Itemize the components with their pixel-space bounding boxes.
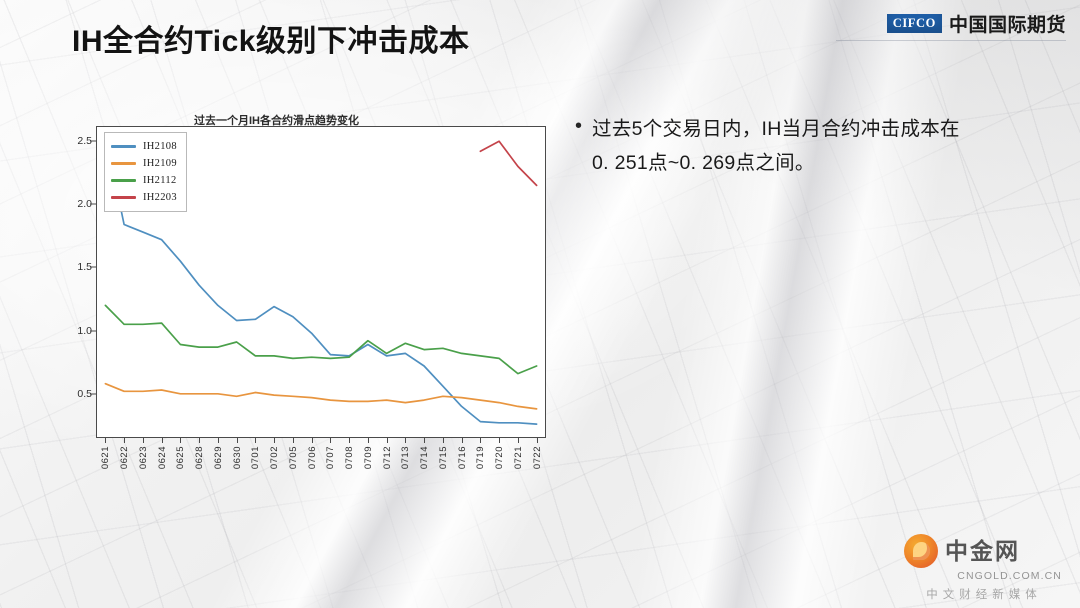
bullet-line-1: 过去5个交易日内，IH当月合约冲击成本在 bbox=[592, 118, 960, 140]
brand-logo: CIFCO 中国国际期货 bbox=[887, 10, 1066, 37]
y-axis-tick-label: 0.5 bbox=[58, 388, 92, 400]
x-axis-tick-mark bbox=[180, 438, 181, 443]
x-axis-tick-mark bbox=[274, 438, 275, 443]
legend-label: IH2112 bbox=[143, 175, 177, 186]
x-axis-tick-mark bbox=[387, 438, 388, 443]
cifco-mark-icon: CIFCO bbox=[887, 14, 942, 33]
legend-item-IH2203: IH2203 bbox=[111, 189, 177, 206]
bullet-text: 过去5个交易日内，IH当月合约冲击成本在 0. 251点~0. 269点之间。 bbox=[592, 112, 960, 180]
x-axis-tick-mark bbox=[518, 438, 519, 443]
x-axis-tick-label: 0625 bbox=[175, 446, 186, 469]
x-axis-tick-label: 0630 bbox=[232, 446, 243, 469]
x-axis-tick-label: 0628 bbox=[194, 446, 205, 469]
x-axis-tick-label: 0624 bbox=[157, 446, 168, 469]
x-axis-tick-label: 0712 bbox=[382, 446, 393, 469]
legend-label: IH2109 bbox=[143, 158, 177, 169]
x-axis-tick-label: 0713 bbox=[400, 446, 411, 469]
y-axis-tick-mark bbox=[90, 393, 96, 394]
x-axis-tick-mark bbox=[443, 438, 444, 443]
watermark-url: CNGOLD.COM.CN bbox=[904, 570, 1064, 582]
x-axis-tick-label: 0705 bbox=[288, 446, 299, 469]
series-line-IH2203 bbox=[480, 141, 536, 185]
x-axis-tick-label: 0622 bbox=[119, 446, 130, 469]
y-axis-tick-mark bbox=[90, 204, 96, 205]
y-axis-tick-mark bbox=[90, 267, 96, 268]
cngold-watermark: 中金网 CNGOLD.COM.CN 中文财经新媒体 bbox=[904, 534, 1064, 602]
x-axis-tick-label: 0621 bbox=[100, 446, 111, 469]
x-axis-tick-label: 0719 bbox=[475, 446, 486, 469]
x-axis-tick-label: 0708 bbox=[344, 446, 355, 469]
chart-legend: IH2108IH2109IH2112IH2203 bbox=[104, 132, 187, 212]
slippage-trend-chart: 过去一个月IH各合约滑点趋势变化 0.51.01.52.02.506210622… bbox=[48, 108, 548, 483]
x-axis-tick-label: 0722 bbox=[532, 446, 543, 469]
legend-color-swatch bbox=[111, 196, 136, 199]
x-axis-tick-mark bbox=[480, 438, 481, 443]
x-axis-tick-label: 0706 bbox=[307, 446, 318, 469]
x-axis-tick-label: 0715 bbox=[438, 446, 449, 469]
x-axis-tick-label: 0707 bbox=[325, 446, 336, 469]
bullet-marker-icon: • bbox=[575, 112, 582, 140]
x-axis-tick-mark bbox=[368, 438, 369, 443]
legend-item-IH2109: IH2109 bbox=[111, 155, 177, 172]
x-axis-tick-label: 0714 bbox=[419, 446, 430, 469]
chart-figure: 0.51.01.52.02.50621062206230624062506280… bbox=[48, 108, 548, 483]
legend-color-swatch bbox=[111, 145, 136, 148]
y-axis-tick-label: 2.0 bbox=[58, 198, 92, 210]
legend-item-IH2112: IH2112 bbox=[111, 172, 177, 189]
y-axis-tick-label: 1.5 bbox=[58, 261, 92, 273]
x-axis-tick-label: 0716 bbox=[457, 446, 468, 469]
legend-item-IH2108: IH2108 bbox=[111, 138, 177, 155]
legend-label: IH2108 bbox=[143, 141, 177, 152]
x-axis-tick-mark bbox=[499, 438, 500, 443]
x-axis-tick-label: 0702 bbox=[269, 446, 280, 469]
watermark-tagline: 中文财经新媒体 bbox=[904, 586, 1064, 602]
x-axis-tick-mark bbox=[537, 438, 538, 443]
slide-canvas: IH全合约Tick级别下冲击成本 CIFCO 中国国际期货 过去一个月IH各合约… bbox=[0, 0, 1080, 608]
x-axis-tick-label: 0720 bbox=[494, 446, 505, 469]
x-axis-tick-mark bbox=[330, 438, 331, 443]
y-axis-tick-mark bbox=[90, 141, 96, 142]
x-axis-tick-label: 0701 bbox=[250, 446, 261, 469]
legend-label: IH2203 bbox=[143, 192, 177, 203]
x-axis-tick-mark bbox=[237, 438, 238, 443]
x-axis-tick-label: 0721 bbox=[513, 446, 524, 469]
x-axis-tick-mark bbox=[462, 438, 463, 443]
bullet-line-2: 0. 251点~0. 269点之间。 bbox=[592, 152, 815, 174]
x-axis-tick-mark bbox=[124, 438, 125, 443]
watermark-header: 中金网 bbox=[904, 534, 1064, 568]
legend-color-swatch bbox=[111, 162, 136, 165]
brand-name: 中国国际期货 bbox=[949, 10, 1066, 37]
header-divider bbox=[836, 40, 1066, 41]
series-line-IH2109 bbox=[105, 384, 536, 409]
x-axis-tick-label: 0623 bbox=[138, 446, 149, 469]
x-axis-tick-mark bbox=[293, 438, 294, 443]
summary-bullets: • 过去5个交易日内，IH当月合约冲击成本在 0. 251点~0. 269点之间… bbox=[575, 112, 1045, 180]
watermark-name: 中金网 bbox=[945, 540, 1020, 563]
x-axis-tick-mark bbox=[349, 438, 350, 443]
x-axis-tick-mark bbox=[255, 438, 256, 443]
x-axis-tick-mark bbox=[143, 438, 144, 443]
x-axis-tick-mark bbox=[105, 438, 106, 443]
x-axis-tick-label: 0709 bbox=[363, 446, 374, 469]
x-axis-tick-mark bbox=[424, 438, 425, 443]
x-axis-tick-label: 0629 bbox=[213, 446, 224, 469]
x-axis-tick-mark bbox=[162, 438, 163, 443]
x-axis-tick-mark bbox=[199, 438, 200, 443]
x-axis-tick-mark bbox=[405, 438, 406, 443]
y-axis-tick-label: 2.5 bbox=[58, 135, 92, 147]
bullet-item: • 过去5个交易日内，IH当月合约冲击成本在 0. 251点~0. 269点之间… bbox=[575, 112, 1045, 180]
y-axis-tick-label: 1.0 bbox=[58, 325, 92, 337]
legend-color-swatch bbox=[111, 179, 136, 182]
page-title: IH全合约Tick级别下冲击成本 bbox=[72, 16, 470, 60]
series-line-IH2112 bbox=[105, 305, 536, 373]
y-axis-tick-mark bbox=[90, 330, 96, 331]
x-axis-tick-mark bbox=[218, 438, 219, 443]
x-axis-tick-mark bbox=[312, 438, 313, 443]
cngold-circle-icon bbox=[904, 534, 938, 568]
